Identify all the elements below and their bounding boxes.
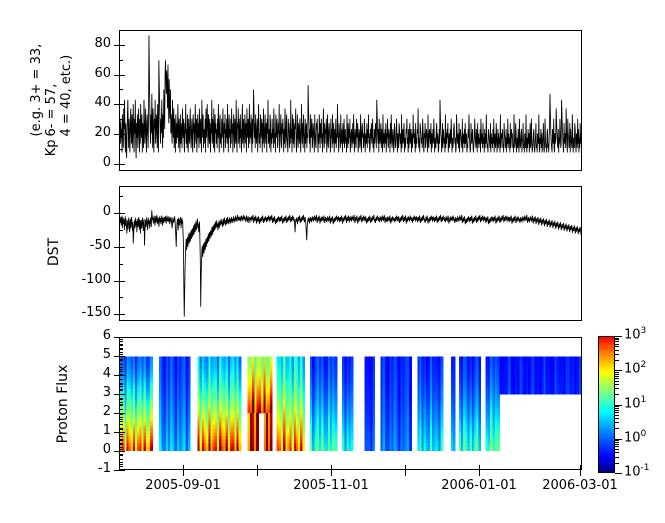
heatmap-cell	[453, 439, 455, 443]
dst-y-minor-tick	[119, 297, 123, 298]
dst-y-tick-label: -50	[90, 238, 111, 253]
kp-y-minor-tick	[119, 119, 123, 120]
colorbar-minor-tick	[615, 374, 619, 375]
heatmap-cell	[351, 357, 354, 361]
heatmap-cell	[351, 382, 354, 386]
heatmap-cell	[441, 375, 444, 379]
heatmap-cell	[453, 414, 455, 418]
heatmap-cell	[351, 447, 354, 451]
heatmap-cell	[334, 439, 337, 443]
heatmap-cell	[302, 386, 305, 390]
heatmap-cell	[334, 447, 337, 451]
heatmap-cell	[239, 432, 242, 436]
heatmap-cell	[188, 378, 191, 382]
colorbar	[598, 336, 615, 473]
heatmap-cell	[256, 449, 259, 451]
heatmap-cell	[239, 447, 242, 451]
heatmap-cell	[409, 439, 412, 443]
heatmap-cell	[334, 411, 337, 415]
heatmap-cell	[302, 443, 305, 447]
x-axis-minor-tick	[119, 444, 123, 445]
colorbar-tick-exponent: -1	[641, 463, 650, 473]
heatmap-cell	[302, 400, 305, 404]
heatmap-cell	[351, 393, 354, 397]
heatmap-cell	[302, 357, 305, 361]
heatmap-cell	[497, 407, 500, 411]
heatmap-cell	[334, 364, 337, 368]
heatmap-cell	[188, 404, 191, 408]
heatmap-cell	[478, 386, 481, 390]
heatmap-cell	[188, 368, 191, 372]
heatmap-cell	[478, 411, 481, 415]
heatmap-cell	[239, 357, 242, 361]
heatmap-cell	[351, 364, 354, 368]
heatmap-cell	[302, 378, 305, 382]
heatmap-cell	[188, 382, 191, 386]
heatmap-cell	[441, 439, 444, 443]
proton-flux-y-minor-tick	[119, 417, 123, 418]
heatmap-cell	[372, 443, 375, 447]
colorbar-minor-tick	[615, 378, 619, 379]
proton-flux-y-tick	[114, 432, 125, 433]
heatmap-cell	[441, 364, 444, 368]
proton-flux-y-minor-tick	[119, 341, 123, 342]
heatmap-cell	[334, 436, 337, 440]
kp-y-minor-tick	[119, 149, 123, 150]
x-axis-minor-tick	[119, 399, 123, 400]
heatmap-cell	[409, 368, 412, 372]
heatmap-cell	[150, 368, 153, 372]
heatmap-cell	[441, 360, 444, 364]
heatmap-cell	[372, 421, 375, 425]
heatmap-cell	[441, 357, 444, 361]
heatmap-cell	[334, 414, 337, 418]
heatmap-cell	[372, 404, 375, 408]
proton-flux-y-tick-label: 2	[103, 404, 111, 419]
x-axis-minor-tick	[119, 424, 123, 425]
heatmap-cell	[351, 411, 354, 415]
heatmap-cell	[188, 421, 191, 425]
heatmap-cell	[478, 414, 481, 418]
x-axis-minor-tick	[119, 349, 123, 350]
heatmap-cell	[453, 382, 455, 386]
heatmap-cell	[453, 400, 455, 404]
proton-flux-y-tick-label: -1	[98, 461, 111, 476]
dst-y-tick-label: -150	[81, 305, 111, 320]
heatmap-cell	[334, 371, 337, 375]
heatmap-cell	[497, 404, 500, 408]
heatmap-cell	[497, 396, 500, 400]
heatmap-cell	[150, 389, 153, 393]
heatmap-cell	[334, 382, 337, 386]
heatmap-cell	[334, 432, 337, 436]
heatmap-cell	[497, 443, 500, 447]
proton-flux-y-minor-tick	[119, 466, 123, 467]
heatmap-cell	[409, 404, 412, 408]
heatmap-cell	[188, 425, 191, 429]
heatmap-cell	[239, 393, 242, 397]
x-axis-tick	[479, 465, 480, 476]
x-axis-minor-tick	[119, 344, 123, 345]
colorbar-minor-tick	[615, 372, 619, 373]
dst-axis-label: DST	[42, 222, 66, 282]
heatmap-cell	[351, 414, 354, 418]
heatmap-cell	[302, 439, 305, 443]
heatmap-cell	[150, 414, 153, 418]
proton-flux-label-text: Proton Flux	[55, 365, 71, 444]
colorbar-minor-tick	[615, 415, 619, 416]
heatmap-cell	[150, 386, 153, 390]
heatmap-cell	[478, 418, 481, 422]
heatmap-cell	[188, 432, 191, 436]
heatmap-cell	[441, 425, 444, 429]
heatmap-cell	[188, 389, 191, 393]
heatmap-cell	[497, 439, 500, 443]
heatmap-cell	[239, 396, 242, 400]
heatmap-cell	[188, 375, 191, 379]
heatmap-cell	[334, 421, 337, 425]
heatmap-cell	[150, 421, 153, 425]
kp-axis-label: Kp (e.g. 3+ = 33, 6- = 57, 4 = 40, etc.)	[0, 15, 103, 185]
heatmap-cell	[334, 425, 337, 429]
dst-y-tick-label: 0	[103, 204, 111, 219]
heatmap-cell	[372, 418, 375, 422]
heatmap-cell	[372, 432, 375, 436]
heatmap-cell	[351, 404, 354, 408]
heatmap-cell	[188, 414, 191, 418]
heatmap-cell	[453, 378, 455, 382]
colorbar-major-tick	[615, 473, 622, 474]
heatmap-cell	[150, 418, 153, 422]
heatmap-cell	[478, 357, 481, 361]
colorbar-minor-tick	[615, 422, 619, 423]
heatmap-cell	[188, 447, 191, 451]
dst-y-minor-tick	[119, 230, 123, 231]
heatmap-cell	[453, 404, 455, 408]
heatmap-cell	[478, 389, 481, 393]
x-axis-minor-tick	[119, 439, 123, 440]
heatmap-cell	[188, 400, 191, 404]
colorbar-minor-tick	[615, 418, 619, 419]
proton-flux-y-minor-tick	[119, 390, 123, 391]
colorbar-minor-tick	[615, 428, 619, 429]
heatmap-cell	[409, 443, 412, 447]
heatmap-cell	[188, 360, 191, 364]
dst-y-tick	[114, 247, 125, 248]
heatmap-cell	[497, 447, 500, 451]
kp-series	[120, 31, 581, 170]
heatmap-cell	[188, 411, 191, 415]
colorbar-minor-tick	[615, 463, 619, 464]
heatmap-cell	[150, 371, 153, 375]
heatmap-cell	[441, 447, 444, 451]
heatmap-cell	[188, 386, 191, 390]
proton-flux-y-tick-label: 0	[103, 442, 111, 457]
colorbar-minor-tick	[615, 341, 619, 342]
dst-series	[120, 187, 581, 320]
proton-flux-y-tick	[114, 375, 125, 376]
colorbar-minor-tick	[615, 446, 619, 447]
colorbar-minor-tick	[615, 360, 619, 361]
heatmap-cell	[188, 439, 191, 443]
heatmap-cell	[497, 414, 500, 418]
heatmap-cell	[409, 425, 412, 429]
heatmap-cell	[409, 357, 412, 361]
heatmap-cell	[351, 429, 354, 433]
x-axis-minor-tick	[119, 434, 123, 435]
heatmap-cell	[150, 357, 153, 361]
heatmap-cell	[150, 447, 153, 451]
heatmap-cell	[372, 439, 375, 443]
heatmap-cell	[351, 368, 354, 372]
heatmap-cell	[150, 375, 153, 379]
kp-y-minor-tick	[119, 89, 123, 90]
heatmap-cell	[334, 407, 337, 411]
heatmap-cell	[409, 382, 412, 386]
heatmap-cell	[302, 425, 305, 429]
heatmap-cell	[497, 436, 500, 440]
heatmap-cell	[478, 432, 481, 436]
heatmap-cell	[372, 400, 375, 404]
heatmap-cell	[302, 432, 305, 436]
heatmap-cell	[409, 407, 412, 411]
heatmap-cell	[441, 382, 444, 386]
heatmap-cell	[351, 425, 354, 429]
heatmap-cell	[478, 393, 481, 397]
heatmap-cell	[302, 404, 305, 408]
heatmap-cell	[334, 443, 337, 447]
heatmap-cell	[334, 375, 337, 379]
heatmap-cell	[478, 404, 481, 408]
x-axis-minor-tick	[119, 354, 123, 355]
heatmap-cell	[239, 389, 242, 393]
colorbar-tick-label: 101	[624, 395, 646, 411]
heatmap-cell	[351, 432, 354, 436]
dst-y-minor-tick	[119, 264, 123, 265]
dst-y-minor-tick	[119, 196, 123, 197]
colorbar-minor-tick	[615, 346, 619, 347]
heatmap-cell	[478, 382, 481, 386]
heatmap-cell	[441, 421, 444, 425]
heatmap-cell	[351, 407, 354, 411]
heatmap-cell	[239, 382, 242, 386]
heatmap-cell	[372, 378, 375, 382]
heatmap-cell	[334, 357, 337, 361]
proton-flux-y-tick	[114, 470, 125, 471]
proton-flux-y-minor-tick	[119, 402, 123, 403]
heatmap-cell	[453, 407, 455, 411]
heatmap-cell	[441, 429, 444, 433]
heatmap-cell	[453, 389, 455, 393]
heatmap-cell	[150, 439, 153, 443]
heatmap-cell	[497, 429, 500, 433]
proton-flux-y-tick-label: 1	[103, 423, 111, 438]
heatmap-cell	[453, 375, 455, 379]
heatmap-cell	[497, 432, 500, 436]
heatmap-cell	[478, 436, 481, 440]
heatmap-cell	[372, 375, 375, 379]
heatmap-cell	[351, 386, 354, 390]
x-axis-minor-tick	[119, 379, 123, 380]
heatmap-cell	[302, 364, 305, 368]
heatmap-cell	[302, 371, 305, 375]
colorbar-tick-label: 100	[624, 429, 646, 445]
heatmap-cell	[302, 382, 305, 386]
heatmap-cell	[334, 429, 337, 433]
colorbar-minor-tick	[615, 410, 619, 411]
heatmap-cell	[150, 429, 153, 433]
heatmap-cell	[188, 436, 191, 440]
colorbar-minor-tick	[615, 350, 619, 351]
heatmap-cell	[351, 371, 354, 375]
colorbar-minor-tick	[615, 452, 619, 453]
heatmap-cell	[351, 375, 354, 379]
heatmap-cell	[478, 447, 481, 451]
heatmap-cell	[478, 364, 481, 368]
heatmap-cell	[334, 378, 337, 382]
heatmap-cell	[302, 414, 305, 418]
proton-flux-y-tick-label: 6	[103, 328, 111, 343]
x-axis-minor-tick	[119, 389, 123, 390]
x-axis-minor-tick	[119, 409, 123, 410]
colorbar-tick-exponent: 0	[641, 429, 647, 439]
heatmap-cell	[372, 436, 375, 440]
heatmap-cell	[334, 400, 337, 404]
proton-flux-y-minor-tick	[119, 421, 123, 422]
heatmap-cell	[453, 364, 455, 368]
heatmap-cell	[351, 378, 354, 382]
proton-flux-y-tick	[114, 356, 125, 357]
heatmap-cell	[239, 368, 242, 372]
heatmap-cell	[302, 375, 305, 379]
heatmap-cell	[478, 375, 481, 379]
heatmap-cell	[453, 396, 455, 400]
heatmap-cell	[239, 386, 242, 390]
colorbar-minor-tick	[615, 384, 619, 385]
heatmap-cell	[453, 360, 455, 364]
heatmap-cell	[150, 393, 153, 397]
proton-flux-y-minor-tick	[119, 436, 123, 437]
heatmap-cell	[302, 407, 305, 411]
heatmap-cell	[409, 432, 412, 436]
heatmap-cell	[334, 418, 337, 422]
heatmap-cell	[497, 418, 500, 422]
colorbar-major-tick	[615, 439, 622, 440]
colorbar-minor-tick	[615, 444, 619, 445]
kp-y-tick-label: 0	[103, 155, 111, 170]
heatmap-cell	[478, 429, 481, 433]
heatmap-cell	[239, 407, 242, 411]
heatmap-cell	[441, 378, 444, 382]
colorbar-minor-tick	[615, 344, 619, 345]
heatmap-cell	[478, 407, 481, 411]
colorbar-minor-tick	[615, 440, 619, 441]
heatmap-cell	[441, 393, 444, 397]
proton-flux-y-minor-tick	[119, 371, 123, 372]
heatmap-cell	[188, 364, 191, 368]
heatmap-cell	[409, 414, 412, 418]
heatmap-cell	[441, 404, 444, 408]
heatmap-cell	[239, 414, 242, 418]
colorbar-minor-tick	[615, 442, 619, 443]
heatmap-cell	[409, 393, 412, 397]
x-axis-minor-tick	[119, 429, 123, 430]
proton-flux-y-tick-label: 5	[103, 347, 111, 362]
heatmap-cell	[372, 360, 375, 364]
heatmap-cell	[239, 404, 242, 408]
heatmap-cell	[150, 425, 153, 429]
heatmap-cell	[409, 371, 412, 375]
heatmap-cell	[409, 375, 412, 379]
heatmap-cell	[351, 396, 354, 400]
heatmap-cell	[188, 429, 191, 433]
heatmap-cell	[441, 386, 444, 390]
heatmap-cell	[372, 407, 375, 411]
colorbar-minor-tick	[615, 354, 619, 355]
proton-flux-y-tick-label: 3	[103, 385, 111, 400]
heatmap-cell	[239, 371, 242, 375]
colorbar-minor-tick	[615, 412, 619, 413]
figure-root: 020406080 Kp (e.g. 3+ = 33, 6- = 57, 4 =…	[0, 0, 665, 523]
colorbar-tick-mantissa: 10	[624, 430, 641, 445]
kp-y-tick	[114, 104, 125, 105]
heatmap-cell	[453, 421, 455, 425]
heatmap-cell	[270, 449, 273, 451]
proton-flux-y-minor-tick	[119, 405, 123, 406]
heatmap-cell	[188, 443, 191, 447]
x-axis-minor-tick	[119, 384, 123, 385]
kp-y-tick	[114, 45, 125, 46]
heatmap-cell	[372, 429, 375, 433]
heatmap-cell	[334, 386, 337, 390]
heatmap-cell	[239, 364, 242, 368]
heatmap-cell	[478, 421, 481, 425]
heatmap-cell	[372, 414, 375, 418]
dst-y-tick	[114, 213, 125, 214]
x-axis-minor-tick	[119, 404, 123, 405]
colorbar-minor-tick	[615, 338, 619, 339]
heatmap-cell	[334, 393, 337, 397]
heatmap-cell	[302, 368, 305, 372]
heatmap-cell	[453, 411, 455, 415]
heatmap-cell	[453, 432, 455, 436]
colorbar-tick-mantissa: 10	[624, 464, 641, 479]
heatmap-cell	[239, 436, 242, 440]
x-axis-tick	[183, 465, 184, 476]
heatmap-cell	[188, 396, 191, 400]
x-axis-minor-tick	[119, 369, 123, 370]
heatmap-cell	[239, 411, 242, 415]
heatmap-cell	[351, 400, 354, 404]
heatmap-cell	[497, 400, 500, 404]
heatmap-cell	[372, 447, 375, 451]
heatmap-cell	[409, 360, 412, 364]
heatmap-cell	[372, 393, 375, 397]
heatmap-cell	[150, 378, 153, 382]
kp-label-note2: 6- = 57,	[44, 84, 59, 137]
heatmap-cell	[453, 425, 455, 429]
kp-y-tick	[114, 164, 125, 165]
heatmap-cell	[453, 393, 455, 397]
heatmap-cell	[239, 400, 242, 404]
heatmap-cell	[453, 443, 455, 447]
heatmap-cell	[409, 364, 412, 368]
x-axis-minor-tick	[119, 374, 123, 375]
heatmap-cell	[351, 436, 354, 440]
x-axis-minor-tick	[119, 364, 123, 365]
colorbar-minor-tick	[615, 457, 619, 458]
heatmap-cell	[372, 425, 375, 429]
